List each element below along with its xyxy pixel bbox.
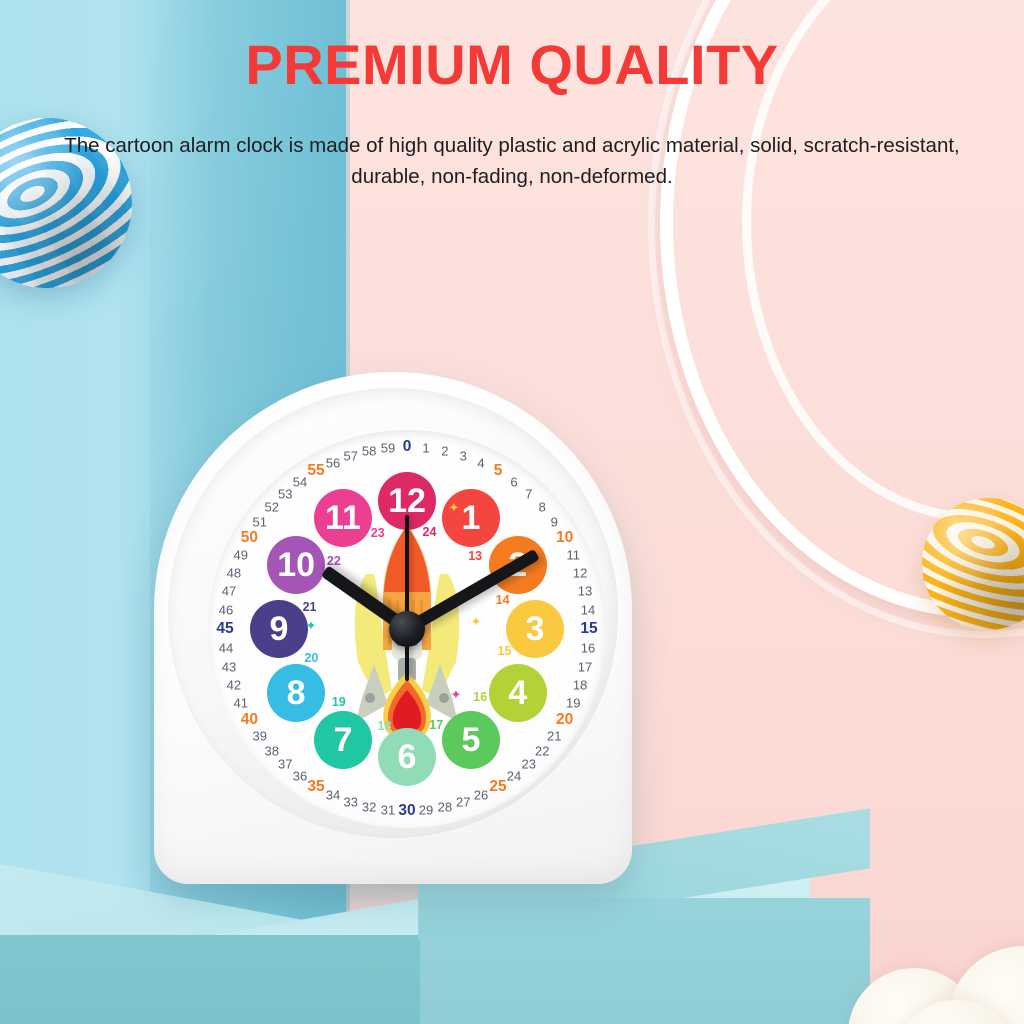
sparkle-icon: ✦ [306,618,317,634]
alarm-clock-face: 0123456789101112131415161718192021222324… [208,430,606,828]
sparkle-icon: ✦ [471,614,482,630]
alarm-clock-bezel: 0123456789101112131415161718192021222324… [168,388,618,838]
product-image-stage: PREMIUM QUALITY The cartoon alarm clock … [0,0,1024,1024]
sparkle-icon: ✦ [449,500,460,516]
page-subtitle: The cartoon alarm clock is made of high … [62,130,962,192]
yellow-ball-stripes [922,498,1024,630]
podium-left-face [0,935,420,1024]
yellow-striped-ball-icon [922,498,1024,630]
hands-center-cap [389,611,425,647]
podium-right-face [420,898,870,1024]
sparkle-icon: ✦ [451,687,462,703]
alarm-clock-case: 0123456789101112131415161718192021222324… [154,372,632,884]
page-title: PREMIUM QUALITY [0,32,1024,97]
